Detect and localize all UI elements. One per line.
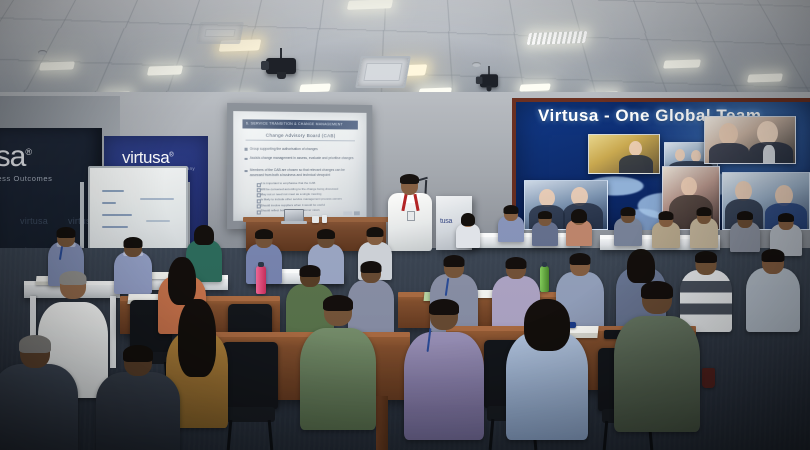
attendee-hair [621, 207, 636, 216]
attendee-hair [124, 237, 143, 248]
travel-mug [702, 368, 715, 388]
projector-base [277, 72, 286, 79]
bottle-cap [258, 262, 264, 267]
virtusa-tagline: siness Outcomes [0, 174, 53, 183]
photo-face [681, 177, 697, 196]
panel-light [527, 31, 588, 45]
slide-sub-bullet: Should reflect both user and customer vi… [261, 208, 354, 213]
attendee-torso [404, 332, 484, 440]
ac-vent [355, 56, 411, 88]
chair-back [222, 342, 278, 409]
ac-vent [196, 22, 244, 44]
chair-leg [488, 419, 494, 450]
attendee [730, 212, 760, 252]
attendee [566, 210, 592, 246]
panel-light [147, 65, 183, 75]
slide-sub-bullet: Should involve suppliers when it would b… [261, 202, 354, 207]
attendee-torso [0, 364, 78, 450]
attendee-torso [456, 224, 480, 248]
attendee-torso [746, 268, 800, 332]
desk-object [312, 216, 319, 223]
laptop [284, 209, 304, 222]
slide-footer-logo [344, 211, 353, 215]
attendee-hair [778, 213, 794, 222]
attendee [614, 208, 642, 246]
attendee-hair [323, 295, 353, 311]
attendee [404, 300, 484, 440]
whiteboard-writing [102, 226, 128, 228]
whiteboard-writing [102, 190, 124, 192]
banner-photo-tile [588, 134, 660, 174]
attendee-hair [627, 249, 655, 283]
whiteboard-writing [102, 202, 116, 204]
attendee [456, 214, 480, 248]
chair-leg [268, 420, 274, 450]
presenter-hair [400, 174, 419, 184]
desk-object [322, 215, 327, 223]
attendee-hair [255, 229, 273, 239]
presenter-id-badge [407, 211, 415, 221]
panel-light [747, 73, 783, 82]
slide-sub-bullet: May not or need not meet as a single mee… [261, 192, 354, 197]
attendee-hair [570, 253, 591, 265]
chair-leg [603, 421, 608, 450]
attendee-hair [697, 207, 712, 216]
attendee-hair [762, 249, 785, 262]
podium-logo: tusa [440, 218, 452, 225]
chair [222, 342, 278, 450]
virtusa-logo-text: virtusa® [122, 148, 173, 168]
whiteboard-writing [140, 198, 174, 200]
photo-silhouette [709, 143, 749, 164]
panel-light [347, 0, 393, 10]
attendee-hair [19, 335, 51, 353]
ceiling-sensor [472, 62, 481, 67]
laptop-keyboard [281, 221, 307, 224]
slide-divider [246, 139, 355, 141]
projector-base [486, 86, 491, 92]
projection-screen: 6. SERVICE TRANSITION & CHANGE MANAGEMEN… [233, 111, 366, 221]
slide-subtitle: Change Advisory Board (CAB) [243, 132, 358, 138]
attendee-torso [114, 252, 152, 294]
attendee [96, 346, 180, 450]
photo-face [719, 123, 738, 145]
attendee [532, 212, 558, 246]
attendee-hair [695, 251, 717, 263]
slide-footer [344, 211, 360, 215]
desk [470, 236, 580, 248]
slide-sub-bullet: Is likely to include other service manag… [261, 197, 354, 202]
slide-bullet: Assists change management in assess, eva… [250, 156, 354, 161]
attendee-hair [168, 257, 196, 305]
attendee-hair [300, 265, 321, 277]
attendee [506, 300, 588, 440]
photo-face [629, 141, 642, 156]
attendee-hair [571, 209, 587, 223]
conference-room-photo: usa® siness Outcomes virtusa virtusa vir… [0, 0, 810, 450]
presenter [388, 176, 432, 250]
panel-light [663, 59, 701, 68]
slide-sub-bullet: It is important to emphasise that the CA… [261, 181, 354, 186]
attendee [114, 238, 152, 294]
attendee-hair [429, 299, 459, 315]
attendee [0, 336, 78, 450]
attendee-hair [178, 299, 216, 377]
attendee-torso [300, 328, 376, 430]
attendee-hair [641, 281, 673, 299]
attendee [690, 208, 718, 248]
desk-leg [376, 396, 388, 450]
photo-shirt [763, 145, 775, 164]
attendee [498, 206, 524, 242]
attendee-hair [367, 227, 384, 237]
projector-lens [261, 61, 269, 70]
banner-photo-tile [704, 116, 796, 164]
panel-light [39, 61, 75, 70]
virtusa-watermark: virtusa [20, 216, 48, 226]
attendee [652, 212, 680, 248]
attendee-hair [194, 225, 214, 245]
slide-bullet: Group supporting the authorisation of ch… [250, 146, 354, 151]
attendee-hair [538, 211, 552, 219]
whiteboard-writing [102, 214, 132, 216]
virtusa-logo-text: usa® [0, 140, 31, 174]
desk-edge [470, 233, 580, 237]
ceiling-sensor [38, 50, 47, 55]
attendee-hair [317, 229, 335, 239]
whiteboard-writing [146, 220, 170, 222]
attendee-hair [123, 345, 153, 362]
attendee-torso [614, 316, 700, 432]
photo-face [735, 181, 752, 201]
attendee-hair [461, 213, 475, 226]
attendee [614, 282, 700, 432]
photo-silhouette [619, 155, 653, 174]
virtusa-one-global-team-banner: Virtusa - One Global Team [512, 98, 810, 230]
projector-lens [476, 77, 483, 84]
attendee [746, 250, 800, 332]
attendee-hair [57, 227, 76, 238]
attendee-hair [361, 261, 382, 273]
attendee [300, 296, 376, 430]
slide-page-number [354, 211, 360, 215]
attendee-hair [737, 211, 753, 220]
slide-bullet: Members of the CAB are chosen so that re… [250, 168, 354, 177]
attendee-hair [659, 211, 674, 220]
bottle-cap [542, 262, 547, 267]
attendee-hair [524, 299, 570, 351]
slide-title: 6. SERVICE TRANSITION & CHANGE MANAGEMEN… [243, 119, 358, 129]
attendee-torso [96, 372, 180, 450]
attendee-hair [60, 271, 87, 285]
attendee-hair [504, 205, 519, 214]
attendee-hair [506, 257, 527, 269]
water-bottle-green [540, 266, 549, 292]
slide-sub-bullet: Will be convened according to the change… [261, 186, 354, 191]
panel-light [519, 83, 551, 91]
water-bottle-pink [256, 266, 266, 294]
photo-face [675, 149, 685, 161]
attendee-hair [444, 255, 465, 267]
